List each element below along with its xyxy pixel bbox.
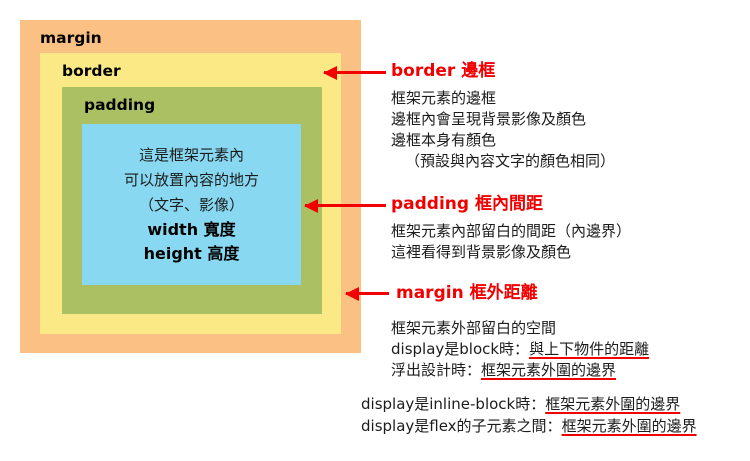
annotation-border-line-3: 邊框本身有顏色 [391, 130, 615, 151]
annotation-padding-line-1: 框架元素內部留白的間距（內邊界） [391, 221, 631, 242]
annotation-body-border: 框架元素的邊框 邊框內會呈現背景影像及顏色 邊框本身有顏色 （預設與內容文字的顏… [391, 88, 615, 172]
border-box: border padding 這是框架元素內 可以放置內容的地方 （文字、影像）… [40, 53, 341, 334]
annotation-margin-line-2-underlined: 與上下物件的距離 [529, 340, 649, 358]
annotation-border-line-1: 框架元素的邊框 [391, 88, 615, 109]
annotation-heading-border: border 邊框 [391, 63, 495, 80]
content-width-label: width 寬度 [82, 218, 301, 242]
annotation-display-note-1-underlined: 框架元素外圍的邊界 [545, 395, 680, 413]
arrow-to-margin-icon [346, 292, 389, 295]
annotation-margin-line-3-underlined: 框架元素外圍的邊界 [481, 361, 616, 379]
annotation-margin-line-2: display是block時：與上下物件的距離 [391, 339, 649, 360]
annotation-padding-line-2: 這裡看得到背景影像及顏色 [391, 242, 631, 263]
content-dimensions: width 寬度 height 高度 [82, 218, 301, 266]
annotation-heading-padding: padding 框內間距 [391, 196, 543, 213]
border-box-label: border [62, 64, 121, 80]
annotation-margin-line-3: 浮出設計時：框架元素外圍的邊界 [391, 360, 649, 381]
annotation-margin-line-2-prefix: display是block時： [391, 340, 529, 358]
content-height-label: height 高度 [82, 242, 301, 266]
content-description-line-2: 可以放置內容的地方 [82, 168, 301, 193]
annotation-margin-line-3-prefix: 浮出設計時： [391, 361, 481, 379]
annotation-display-note-2-underlined: 框架元素外圍的邊界 [562, 417, 697, 435]
content-description-line-3: （文字、影像） [82, 193, 301, 218]
annotation-body-padding: 框架元素內部留白的間距（內邊界） 這裡看得到背景影像及顏色 [391, 221, 631, 263]
padding-box: padding 這是框架元素內 可以放置內容的地方 （文字、影像） width … [62, 87, 322, 314]
annotation-display-note-1: display是inline-block時：框架元素外圍的邊界 [361, 393, 697, 415]
annotation-display-note-2-prefix: display是flex的子元素之間： [361, 417, 562, 435]
annotation-display-note-1-prefix: display是inline-block時： [361, 395, 545, 413]
content-box: 這是框架元素內 可以放置內容的地方 （文字、影像） width 寬度 heigh… [82, 124, 301, 285]
annotation-display-notes: display是inline-block時：框架元素外圍的邊界 display是… [361, 393, 697, 437]
arrow-to-padding-icon [305, 204, 386, 207]
content-description-line-1: 這是框架元素內 [82, 143, 301, 168]
annotation-margin-line-1: 框架元素外部留白的空間 [391, 318, 649, 339]
box-model-illustration: margin border padding 這是框架元素內 可以放置內容的地方 … [0, 0, 750, 461]
margin-box: margin border padding 這是框架元素內 可以放置內容的地方 … [20, 20, 361, 353]
annotation-heading-margin: margin 框外距離 [396, 285, 538, 302]
padding-box-label: padding [84, 98, 155, 114]
annotation-border-line-2: 邊框內會呈現背景影像及顏色 [391, 109, 615, 130]
content-description: 這是框架元素內 可以放置內容的地方 （文字、影像） [82, 143, 301, 218]
margin-box-label: margin [40, 31, 102, 47]
annotation-border-line-4: （預設與內容文字的顏色相同） [391, 151, 615, 172]
annotation-body-margin: 框架元素外部留白的空間 display是block時：與上下物件的距離 浮出設計… [391, 318, 649, 381]
annotation-display-note-2: display是flex的子元素之間：框架元素外圍的邊界 [361, 415, 697, 437]
arrow-to-border-icon [324, 71, 386, 74]
